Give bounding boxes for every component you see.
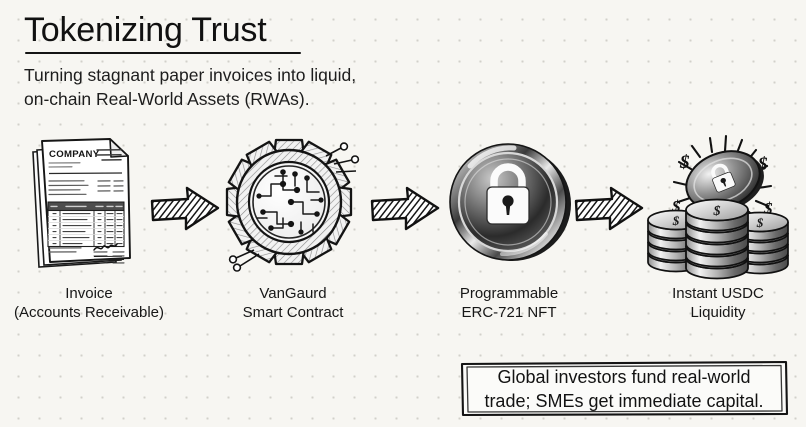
stage-label-line-1: VanGaurd [218,285,368,304]
title-underline [25,52,301,54]
stage-label-liquidity: Instant USDC Liquidity [634,285,802,322]
stage-label-line-2: Liquidity [634,304,802,323]
stage-label-line-1: Invoice [6,285,172,304]
subtitle-line-1: Turning stagnant paper invoices into liq… [24,63,494,87]
caption-line-2: trade; SMEs get immediate capital. [484,389,763,413]
stage-label-line-2: (Accounts Receivable) [6,304,172,323]
padlock-coin-icon [434,130,584,285]
arrow-invoice-to-contract [148,183,222,242]
dollar-symbol: $ [713,204,721,219]
invoice-company-heading: COMPANY [49,149,100,160]
stage-liquidity: $ $ $ $ [634,130,802,322]
page-title: Tokenizing Trust [24,10,494,50]
stage-label-line-1: Programmable [434,285,584,304]
subtitle-line-2: on-chain Real-World Assets (RWAs). [24,87,494,111]
arrow-contract-to-nft [368,183,442,242]
stage-label-line-1: Instant USDC [634,285,802,304]
stage-label-invoice: Invoice (Accounts Receivable) [6,285,172,322]
stage-label-line-2: Smart Contract [218,304,368,323]
gear-circuit-icon [218,130,368,285]
header: Tokenizing Trust Turning stagnant paper … [24,10,494,111]
stage-nft: Programmable ERC-721 NFT [434,130,584,322]
stage-label-line-2: ERC-721 NFT [434,304,584,323]
dollar-symbol: $ [672,213,680,228]
infographic-canvas: Tokenizing Trust Turning stagnant paper … [0,0,806,427]
coin-stack-center: $ [686,200,748,279]
stage-smart-contract: VanGaurd Smart Contract [218,130,368,322]
caption-box: Global investors fund real-world trade; … [459,360,789,417]
stage-label-smart-contract: VanGaurd Smart Contract [218,285,368,322]
page-subtitle: Turning stagnant paper invoices into liq… [24,63,494,111]
stage-label-nft: Programmable ERC-721 NFT [434,285,584,322]
coin-stacks-icon: $ $ $ $ [634,130,802,285]
dollar-symbol: $ [756,215,764,230]
dollar-symbol: $ [679,152,690,173]
caption-line-1: Global investors fund real-world [497,365,750,389]
